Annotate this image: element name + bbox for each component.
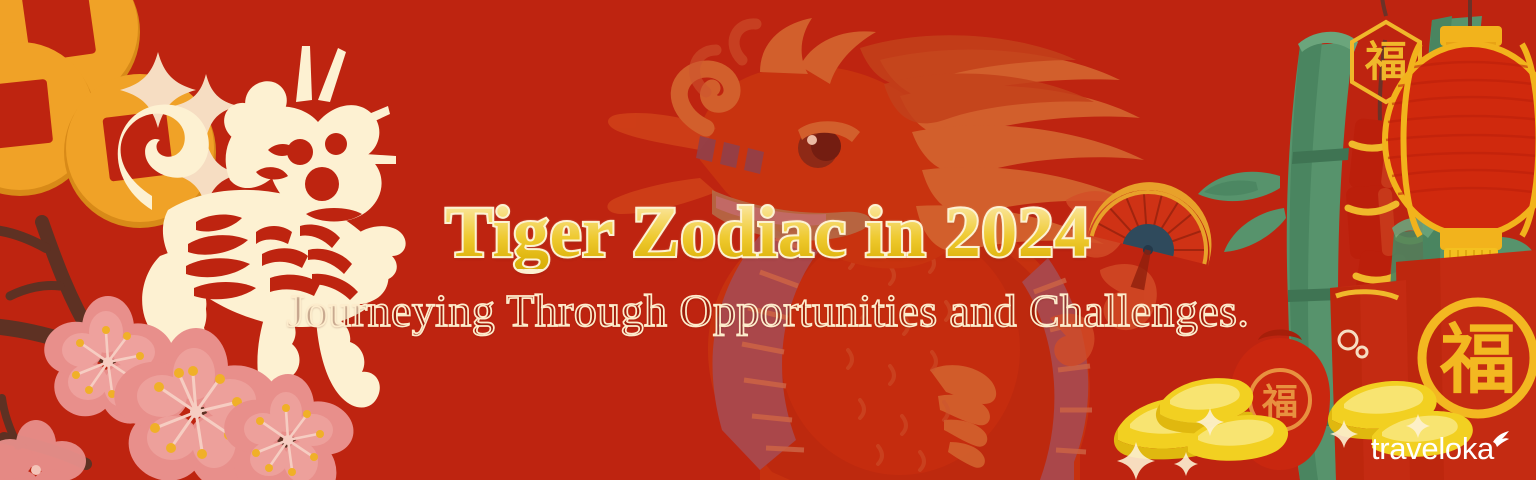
svg-text:福: 福 <box>1439 315 1516 404</box>
traveloka-bird-icon <box>1490 430 1512 450</box>
traveloka-wordmark: traveloka <box>1371 433 1494 464</box>
traveloka-logo[interactable]: traveloka <box>1371 433 1512 464</box>
prosperity-items: 福 福 <box>0 0 1536 480</box>
cny-tiger-zodiac-banner: 福 <box>0 0 1536 480</box>
